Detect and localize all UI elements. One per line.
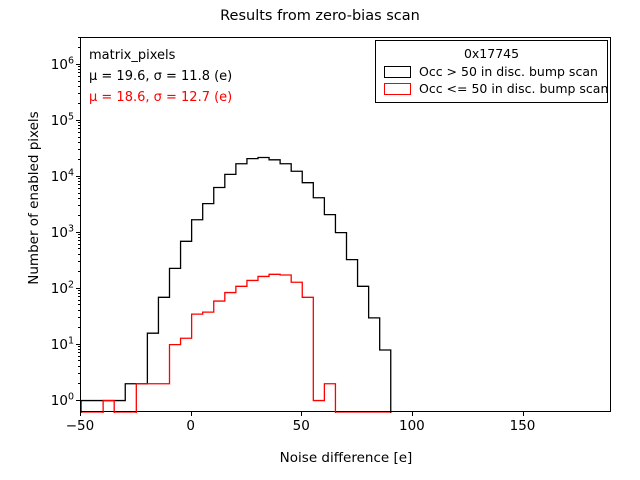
y-tick-label: 102	[51, 279, 74, 297]
y-tick-label: 104	[51, 167, 74, 185]
y-minor-tick	[78, 300, 80, 301]
y-minor-tick	[78, 81, 80, 82]
y-minor-tick	[78, 37, 80, 38]
y-minor-tick	[78, 248, 80, 249]
y-minor-tick	[78, 373, 80, 374]
legend-item-occ-le-50[interactable]: Occ <= 50 in disc. bump scan	[384, 81, 601, 96]
y-minor-tick	[78, 290, 80, 291]
y-tick	[76, 344, 80, 345]
y-minor-tick	[78, 293, 80, 294]
y-tick	[76, 64, 80, 65]
legend-title: 0x17745	[382, 46, 601, 61]
y-minor-tick	[78, 137, 80, 138]
y-tick-label: 103	[51, 223, 74, 241]
y-minor-tick	[78, 76, 80, 77]
y-minor-tick	[78, 72, 80, 73]
y-minor-tick	[78, 193, 80, 194]
y-tick-label: 101	[51, 335, 74, 353]
y-minor-tick	[78, 360, 80, 361]
y-tick	[76, 176, 80, 177]
y-tick	[76, 120, 80, 121]
y-minor-tick	[78, 47, 80, 48]
y-axis-label: Number of enabled pixels	[26, 68, 42, 328]
y-minor-tick	[78, 261, 80, 262]
y-minor-tick	[78, 237, 80, 238]
annotation-dataset: matrix_pixels	[89, 45, 232, 66]
legend-label: Occ <= 50 in disc. bump scan	[419, 81, 608, 96]
y-minor-tick	[78, 149, 80, 150]
legend-swatch-icon	[384, 83, 411, 95]
y-minor-tick	[78, 356, 80, 357]
stats-annotation: matrix_pixels μ = 19.6, σ = 11.8 (e) μ =…	[89, 45, 232, 108]
y-minor-tick	[78, 271, 80, 272]
annotation-red-stats: μ = 18.6, σ = 12.7 (e)	[89, 87, 232, 108]
y-minor-tick	[78, 215, 80, 216]
y-minor-tick	[78, 69, 80, 70]
y-minor-tick	[78, 254, 80, 255]
legend-item-occ-gt-50[interactable]: Occ > 50 in disc. bump scan	[384, 64, 601, 79]
y-minor-tick	[78, 310, 80, 311]
x-tick-label: 150	[510, 418, 536, 434]
x-tick-label: 100	[399, 418, 425, 434]
y-minor-tick	[78, 383, 80, 384]
y-minor-tick	[78, 244, 80, 245]
y-tick-label: 105	[51, 111, 74, 129]
y-tick	[76, 288, 80, 289]
legend-label: Occ > 50 in disc. bump scan	[419, 64, 598, 79]
y-tick	[76, 400, 80, 401]
x-tick	[523, 412, 524, 416]
y-minor-tick	[78, 86, 80, 87]
y-minor-tick	[78, 346, 80, 347]
y-minor-tick	[78, 159, 80, 160]
y-minor-tick	[78, 349, 80, 350]
x-tick	[80, 412, 81, 416]
y-minor-tick	[78, 184, 80, 185]
y-minor-tick	[78, 178, 80, 179]
y-minor-tick	[78, 366, 80, 367]
y-minor-tick	[78, 304, 80, 305]
y-minor-tick	[78, 296, 80, 297]
y-minor-tick	[78, 205, 80, 206]
y-minor-tick	[78, 188, 80, 189]
y-tick-label: 106	[51, 55, 74, 73]
x-tick	[412, 412, 413, 416]
y-minor-tick	[78, 198, 80, 199]
legend: 0x17745 Occ > 50 in disc. bump scan Occ …	[375, 40, 608, 103]
y-minor-tick	[78, 125, 80, 126]
x-tick-label: −50	[66, 418, 95, 434]
y-minor-tick	[78, 66, 80, 67]
y-tick	[76, 232, 80, 233]
figure: Results from zero-bias scan Number of en…	[0, 0, 640, 480]
x-tick	[191, 412, 192, 416]
series-line-occ-le-50	[81, 274, 391, 413]
y-minor-tick	[78, 128, 80, 129]
x-tick-label: 0	[186, 418, 195, 434]
y-minor-tick	[78, 181, 80, 182]
x-tick	[301, 412, 302, 416]
x-tick-label: 50	[293, 418, 310, 434]
y-minor-tick	[78, 352, 80, 353]
y-minor-tick	[78, 240, 80, 241]
y-minor-tick	[78, 317, 80, 318]
x-axis-label: Noise difference [e]	[80, 450, 612, 466]
chart-title: Results from zero-bias scan	[0, 8, 640, 24]
y-minor-tick	[78, 93, 80, 94]
y-tick-label: 100	[51, 391, 74, 409]
annotation-black-stats: μ = 19.6, σ = 11.8 (e)	[89, 66, 232, 87]
series-line-occ-gt-50	[81, 158, 391, 414]
y-minor-tick	[78, 103, 80, 104]
legend-swatch-icon	[384, 66, 411, 78]
y-minor-tick	[78, 234, 80, 235]
y-minor-tick	[78, 142, 80, 143]
y-minor-tick	[78, 132, 80, 133]
y-minor-tick	[78, 327, 80, 328]
y-minor-tick	[78, 122, 80, 123]
